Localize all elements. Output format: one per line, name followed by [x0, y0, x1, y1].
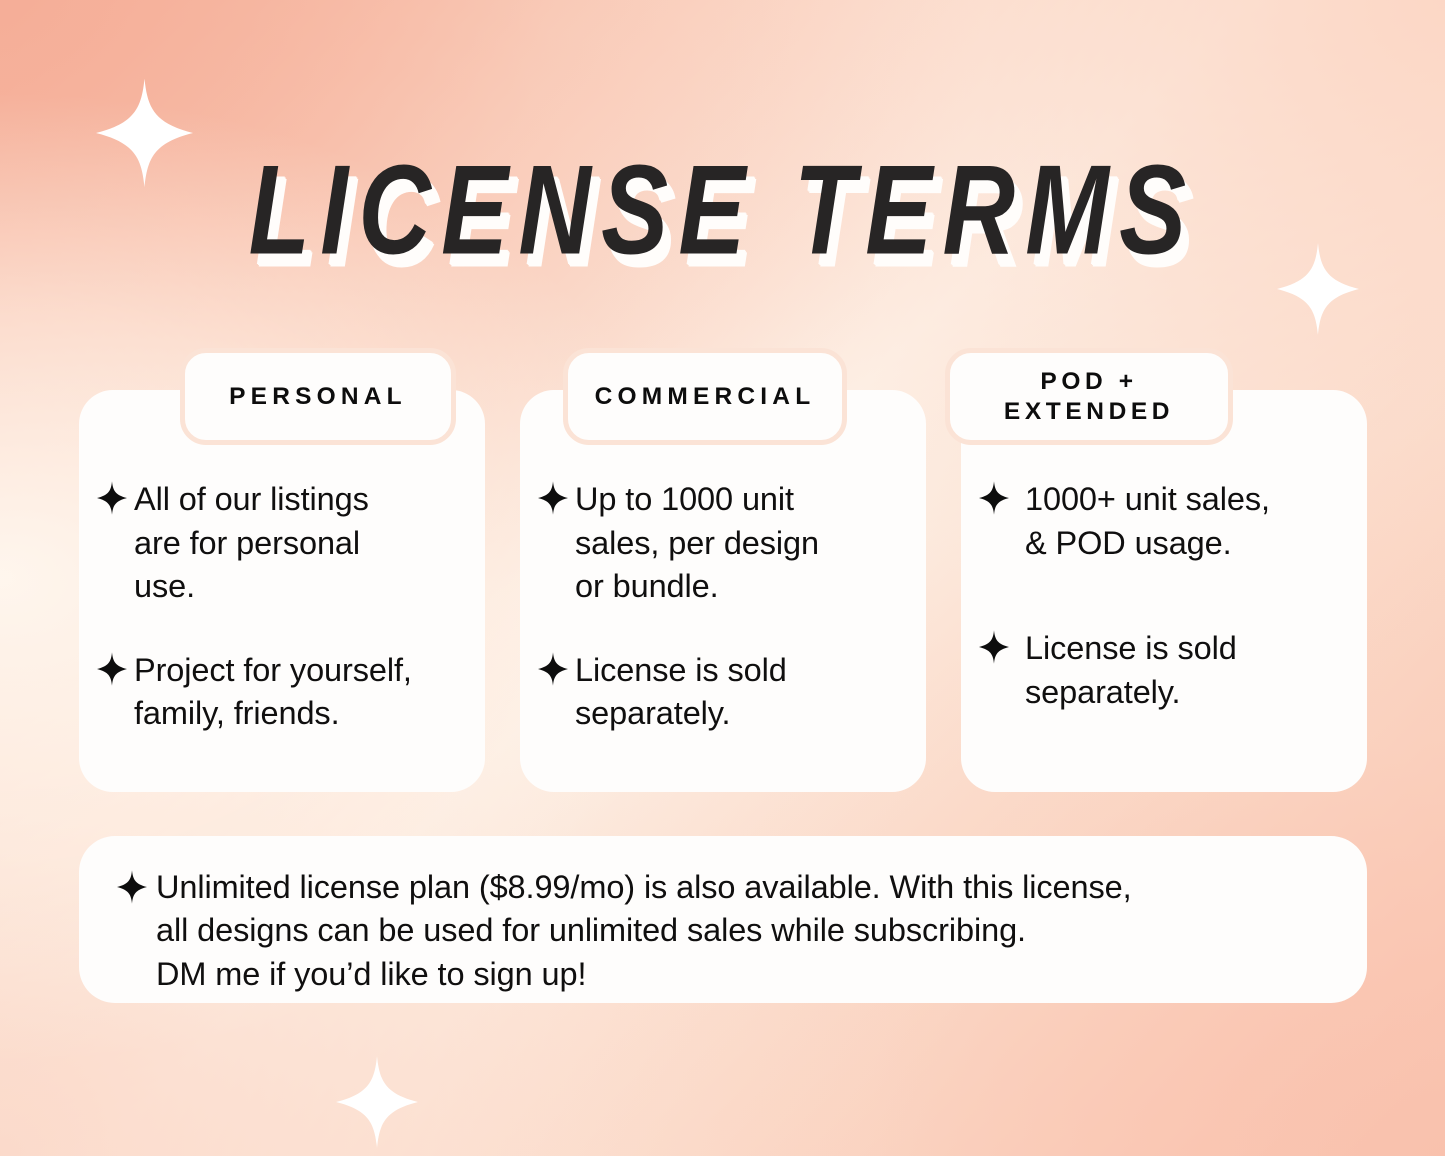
list-item: All of our listings are for personal use… — [97, 478, 465, 609]
unlimited-plan-banner: Unlimited license plan ($8.99/mo) is als… — [79, 836, 1367, 1003]
sparkle-bottom-left — [336, 1054, 418, 1150]
sparkle-right — [1277, 242, 1359, 336]
banner-content: Unlimited license plan ($8.99/mo) is als… — [117, 866, 1132, 996]
list-item-text: Up to 1000 unit sales, per design or bun… — [575, 478, 819, 609]
sparkle-four-point-icon — [97, 652, 127, 686]
card-header-label: COMMERCIAL — [595, 382, 816, 412]
list-item-text: License is sold separately. — [1025, 627, 1237, 714]
card-bullet-list: All of our listings are for personal use… — [79, 478, 485, 736]
license-card-personal[interactable]: PERSONAL All of our listings are for per… — [79, 348, 485, 792]
sparkle-four-point-icon — [97, 481, 127, 515]
list-item: Up to 1000 unit sales, per design or bun… — [538, 478, 906, 609]
sparkle-four-point-icon — [538, 652, 568, 686]
list-item-text: All of our listings are for personal use… — [134, 478, 369, 609]
card-header-badge: PERSONAL — [180, 348, 456, 445]
sparkle-four-point-icon — [117, 870, 147, 904]
sparkle-four-point-icon — [979, 481, 1009, 515]
card-header-badge: COMMERCIAL — [563, 348, 847, 445]
card-header-badge: POD + EXTENDED — [945, 348, 1233, 445]
list-item: License is sold separately. — [979, 627, 1347, 714]
card-header-label: POD + EXTENDED — [950, 367, 1228, 427]
list-item-text: 1000+ unit sales, & POD usage. — [1025, 478, 1270, 565]
sparkle-four-point-icon — [538, 481, 568, 515]
license-card-pod-extended[interactable]: POD + EXTENDED 1000+ unit sales, & POD u… — [961, 348, 1367, 792]
card-header-label: PERSONAL — [229, 382, 407, 412]
card-bullet-list: 1000+ unit sales, & POD usage. License i… — [961, 478, 1367, 714]
sparkle-four-point-icon — [979, 630, 1009, 664]
page-title: LICENSE TERMS — [249, 146, 1197, 273]
list-item: Project for yourself, family, friends. — [97, 649, 465, 736]
list-item: License is sold separately. — [538, 649, 906, 736]
license-tier-cards: PERSONAL All of our listings are for per… — [79, 348, 1367, 792]
list-item: 1000+ unit sales, & POD usage. — [979, 478, 1347, 565]
banner-text: Unlimited license plan ($8.99/mo) is als… — [156, 866, 1132, 996]
license-card-commercial[interactable]: COMMERCIAL Up to 1000 unit sales, per de… — [520, 348, 926, 792]
title-container: LICENSE TERMS — [0, 146, 1445, 254]
list-item-text: Project for yourself, family, friends. — [134, 649, 412, 736]
list-item-text: License is sold separately. — [575, 649, 787, 736]
card-bullet-list: Up to 1000 unit sales, per design or bun… — [520, 478, 926, 736]
